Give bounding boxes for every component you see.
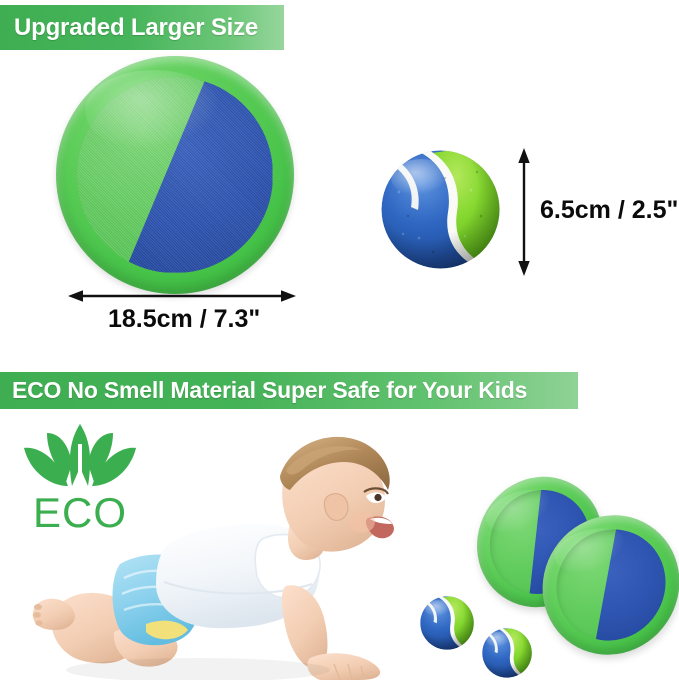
banner-eco-safe-label: ECO No Smell Material Super Safe for You… [12,377,527,404]
infographic-page: Upgraded Larger Size [0,0,679,684]
paddle-velcro-face [77,77,272,272]
paddle-product-image [56,56,294,294]
ball-dimension-label: 6.5cm / 2.5" [540,196,678,225]
product-group [412,472,679,684]
ball-highlight [391,159,451,197]
ball-graphic [381,150,500,269]
paddle-dimension-label: 18.5cm / 7.3" [108,305,260,334]
ball-left-small [420,596,474,650]
baby-cheek [349,511,375,533]
banner-upgraded-size: Upgraded Larger Size [0,5,284,50]
banner-eco-safe: ECO No Smell Material Super Safe for You… [0,372,578,409]
baby-photo [28,418,400,680]
double-arrow-horizontal-icon [68,286,296,306]
baby-eye-pupil [374,494,381,501]
ball-product-image [381,150,500,269]
baby-ear [324,494,348,521]
ball-right-small [482,628,532,678]
banner-upgraded-size-label: Upgraded Larger Size [14,14,258,42]
double-arrow-vertical-icon [512,148,536,276]
